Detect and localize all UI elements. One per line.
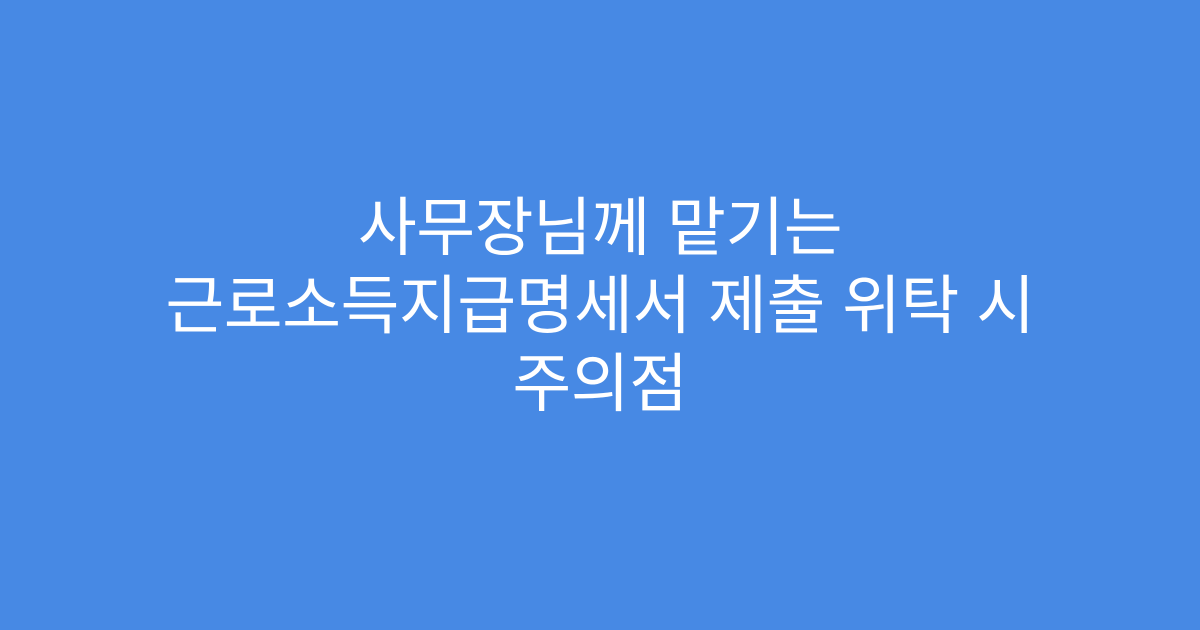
thumbnail-card: 사무장님께 맡기는 근로소득지급명세서 제출 위탁 시 주의점 [0,0,1200,630]
headline-text-block: 사무장님께 맡기는 근로소득지급명세서 제출 위탁 시 주의점 [70,189,1130,441]
headline-line-3: 주의점 [70,345,1130,423]
headline-line-1: 사무장님께 맡기는 [70,189,1130,267]
headline-line-2: 근로소득지급명세서 제출 위탁 시 [70,267,1130,345]
